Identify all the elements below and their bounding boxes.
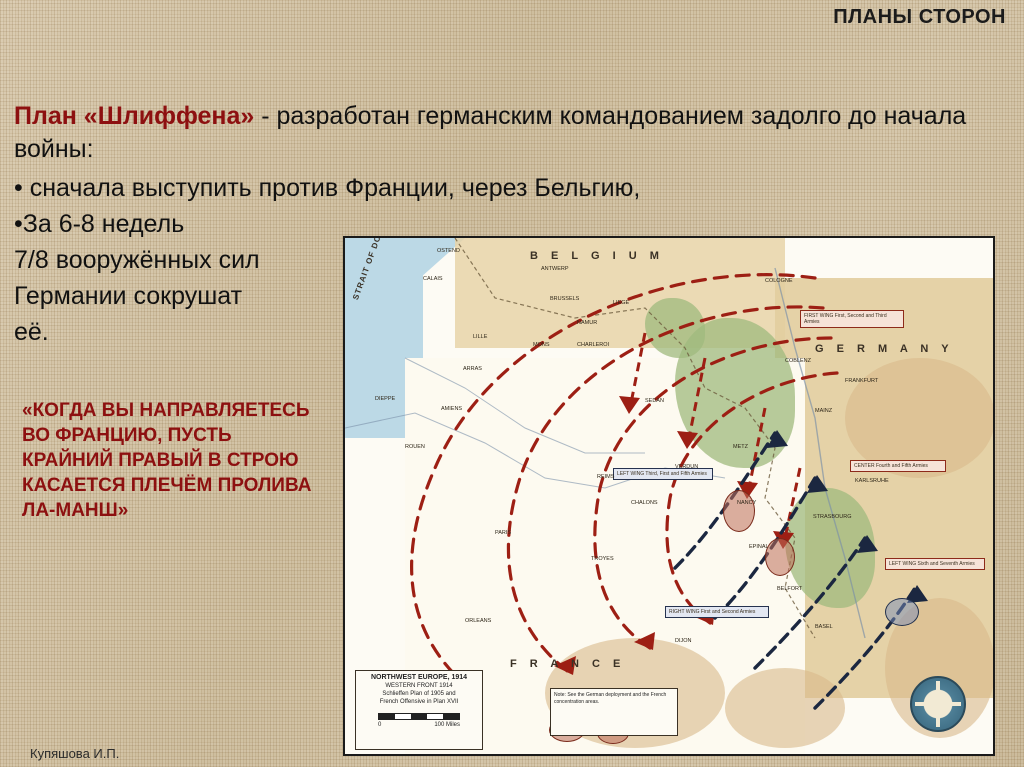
scale-label-left: 0: [378, 721, 381, 729]
country-label-germany: G E R M A N Y: [815, 343, 954, 355]
city-label: SEDAN: [645, 398, 664, 404]
city-label: NAMUR: [577, 320, 597, 326]
city-label: VERDUN: [675, 464, 698, 470]
city-label: NANCY: [737, 500, 756, 506]
army-annotation-box: CENTER Fourth and Fifth Armies: [850, 460, 946, 472]
city-label: DIJON: [675, 638, 692, 644]
city-label: TROYES: [591, 556, 614, 562]
page-title: ПЛАНЫ СТОРОН: [833, 6, 1006, 29]
legend-line-3: Schlieffen Plan of 1905 and: [360, 690, 478, 698]
scale-bar: [378, 713, 460, 720]
city-label: CALAIS: [423, 276, 443, 282]
city-label: PARIS: [495, 530, 511, 536]
city-label: ANTWERP: [541, 266, 569, 272]
map-image: B E L G I U M G E R M A N Y F R A N C E …: [343, 236, 995, 756]
city-label: MAINZ: [815, 408, 832, 414]
map-legend: NORTHWEST EUROPE, 1914 WESTERN FRONT 191…: [355, 670, 483, 750]
city-label: OSTEND: [437, 248, 460, 254]
legend-line-4: French Offensive in Plan XVII: [360, 698, 478, 706]
country-label-france: F R A N C E: [510, 658, 625, 670]
city-label: ROUEN: [405, 444, 425, 450]
unit-symbol: [885, 598, 919, 626]
quote-text: «КОГДА ВЫ НАПРАВЛЯЕТЕСЬ ВО ФРАНЦИЮ, ПУСТ…: [22, 398, 327, 523]
city-label: CHALONS: [631, 500, 658, 506]
map-canvas: B E L G I U M G E R M A N Y F R A N C E …: [345, 238, 993, 754]
city-label: BASEL: [815, 624, 833, 630]
city-label: COBLENZ: [785, 358, 811, 364]
country-label-belgium: B E L G I U M: [530, 250, 664, 262]
city-label: BELFORT: [777, 586, 802, 592]
unit-symbol: [723, 490, 755, 532]
map-note-box: Note: See the German deployment and the …: [550, 688, 678, 736]
city-label: BRUSSELS: [550, 296, 579, 302]
slide: ПЛАНЫ СТОРОН План «Шлиффена» - разработа…: [0, 0, 1024, 767]
city-label: STRASBOURG: [813, 514, 852, 520]
plan-name: План «Шлиффена»: [14, 102, 254, 130]
army-annotation-box: LEFT WING Sixth and Seventh Armies: [885, 558, 985, 570]
city-label: ORLEANS: [465, 618, 491, 624]
army-annotation-box: RIGHT WING First and Second Armies: [665, 606, 769, 618]
city-label: ARRAS: [463, 366, 482, 372]
list-item: • сначала выступить против Франции, чере…: [14, 170, 1014, 206]
author-credit: Купяшова И.П.: [30, 746, 119, 761]
city-label: EPINAL: [749, 544, 769, 550]
intro-paragraph: План «Шлиффена» - разработан германским …: [14, 100, 1014, 166]
city-label: METZ: [733, 444, 748, 450]
compass-rose-icon: [910, 676, 966, 732]
legend-title: NORTHWEST EUROPE, 1914: [360, 674, 478, 682]
city-label: KARLSRUHE: [855, 478, 889, 484]
city-label: COLOGNE: [765, 278, 793, 284]
city-label: AMIENS: [441, 406, 462, 412]
city-label: MONS: [533, 342, 550, 348]
unit-symbol: [765, 538, 795, 576]
legend-subtitle: WESTERN FRONT 1914: [360, 682, 478, 690]
city-label: FRANKFURT: [845, 378, 878, 384]
city-label: CHARLEROI: [577, 342, 609, 348]
city-label: LIEGE: [613, 300, 629, 306]
army-annotation-box: FIRST WING First, Second and Third Armie…: [800, 310, 904, 328]
scale-label-right: 100 Miles: [434, 721, 460, 729]
city-label: DIEPPE: [375, 396, 395, 402]
city-label: REIMS: [597, 474, 614, 480]
city-label: LILLE: [473, 334, 487, 340]
